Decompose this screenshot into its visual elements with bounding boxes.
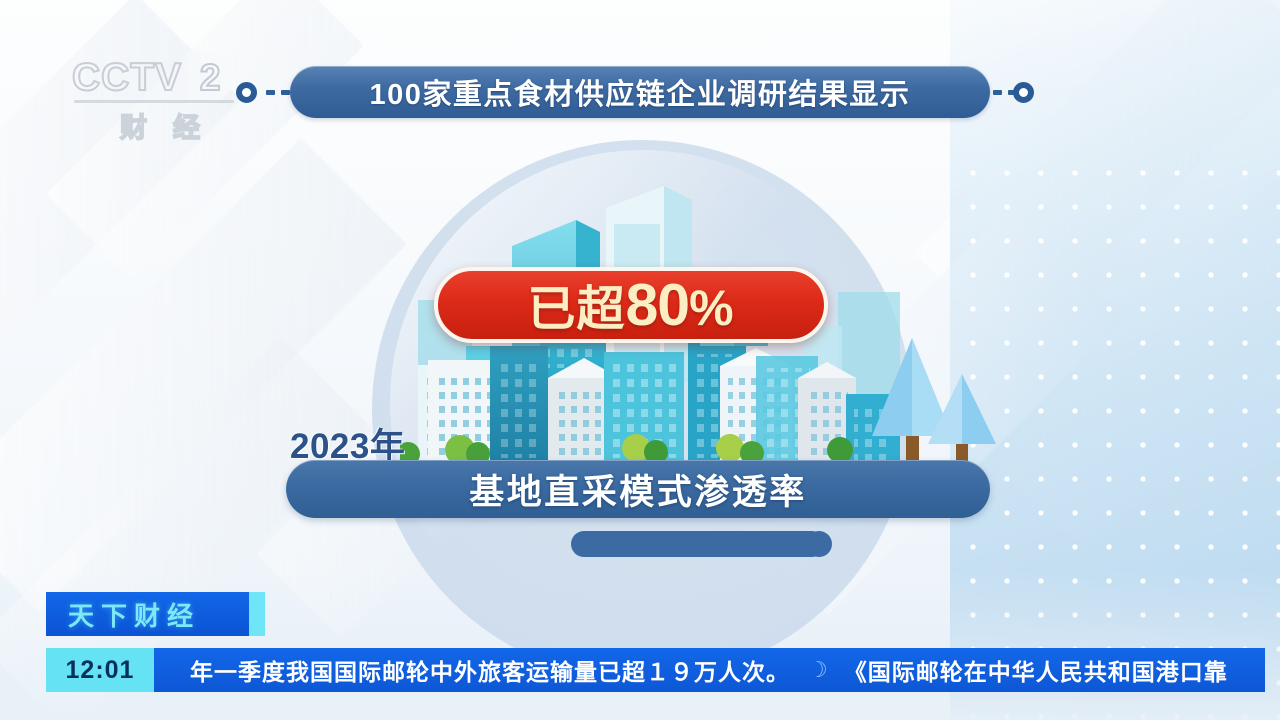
crescent-separator-icon: ☽ [808,657,828,683]
cctv-logo-text: CCTV [72,56,182,100]
badge-prefix: 已超 [527,283,625,336]
percentage-badge: 已超80% [434,267,828,343]
pine-trees [860,330,1030,475]
logo-sub-char-2: 经 [173,106,200,145]
clock-time: 12:01 [66,656,135,685]
ticker-item: 《国际邮轮在中华人民共和国港口靠 [844,653,1228,687]
logo-divider [74,100,234,103]
dash-connector-left [266,90,290,95]
clock-box: 12:01 [46,648,154,692]
logo-subtitle: 财 经 [120,106,260,145]
broadcast-screen: CCTV 2 财 经 100家重点食材供应链企业调研结果显示 已超80% 202… [0,0,1280,720]
infographic-title-bar: 基地直采模式渗透率 [286,460,990,518]
headline-text: 100家重点食材供应链企业调研结果显示 [370,71,911,113]
program-name: 天下财经 [68,596,200,633]
dash-segment [266,90,275,95]
dash-segment [281,90,290,95]
logo-sub-char-1: 财 [120,106,147,145]
badge-value: 80 [625,272,689,338]
ticker-item: 年一季度我国国际邮轮中外旅客运输量已超１９万人次。 [190,653,790,687]
decorative-sub-bar [571,531,825,557]
ring-connector-icon [236,82,257,103]
news-ticker[interactable]: 年一季度我国国际邮轮中外旅客运输量已超１９万人次。 ☽ 《国际邮轮在中华人民共和… [154,648,1265,692]
program-banner-accent [249,592,265,636]
dash-segment [993,90,1002,95]
program-name-banner: 天下财经 [46,592,261,636]
decorative-dot [806,531,832,557]
channel-number: 2 [200,57,221,99]
infographic-title: 基地直采模式渗透率 [469,464,807,515]
headline-banner: 100家重点食材供应链企业调研结果显示 [290,66,990,118]
badge-label: 已超80% [527,276,734,335]
ring-connector-icon [1013,82,1034,103]
channel-number-badge: 2 [187,52,233,104]
badge-unit: % [689,280,734,336]
